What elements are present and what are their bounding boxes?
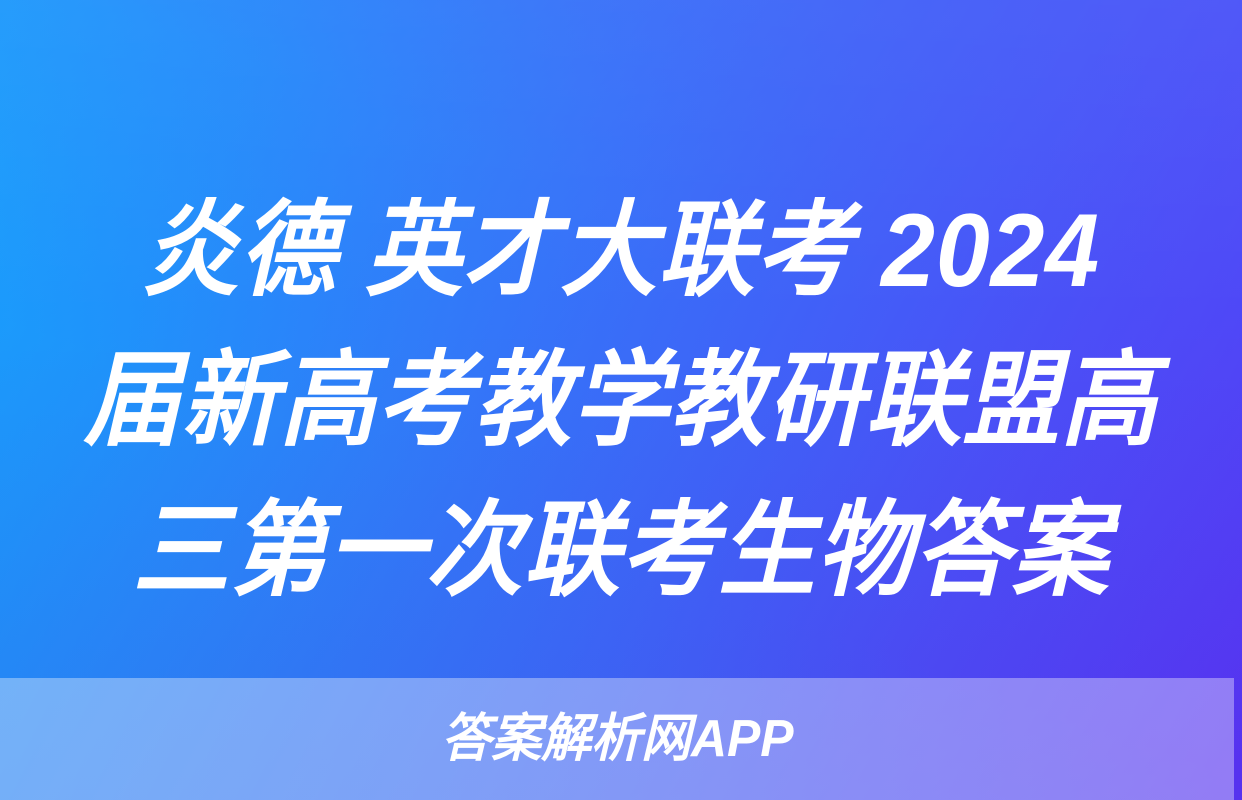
page-title-line-2: 届新高考教学教研联盟高 (43, 326, 1198, 476)
page-title-line-3: 三第一次联考生物答案 (43, 476, 1198, 626)
poster-canvas: 炎德 英才大联考 2024 届新高考教学教研联盟高 三第一次联考生物答案 答案解… (0, 0, 1242, 800)
watermark-label: 答案解析网APP (441, 713, 793, 765)
watermark-band: 答案解析网APP (0, 678, 1234, 800)
page-title: 炎德 英才大联考 2024 届新高考教学教研联盟高 三第一次联考生物答案 (0, 176, 1242, 626)
page-title-line-1: 炎德 英才大联考 2024 (43, 176, 1198, 326)
